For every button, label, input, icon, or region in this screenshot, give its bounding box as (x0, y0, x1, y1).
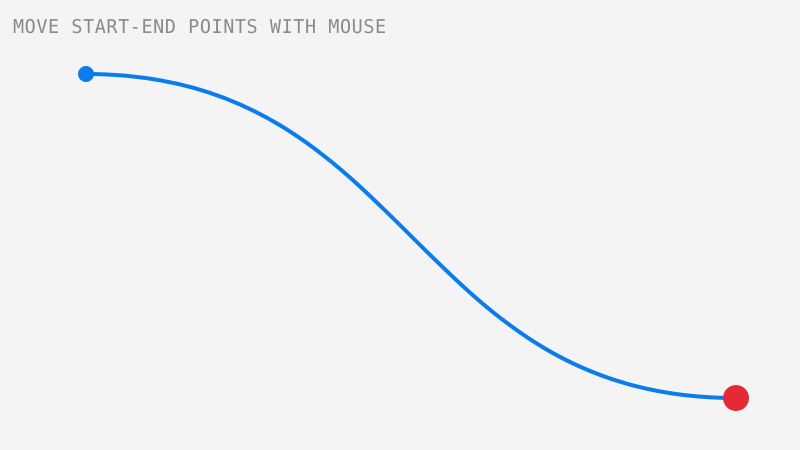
bezier-editor-canvas[interactable]: MOVE START-END POINTS WITH MOUSE (0, 0, 800, 450)
start-point-handle[interactable] (78, 66, 94, 82)
page-title: MOVE START-END POINTS WITH MOUSE (13, 16, 387, 38)
bezier-curve-svg (0, 0, 800, 450)
bezier-curve-path (86, 74, 736, 398)
end-point-handle[interactable] (723, 385, 749, 411)
